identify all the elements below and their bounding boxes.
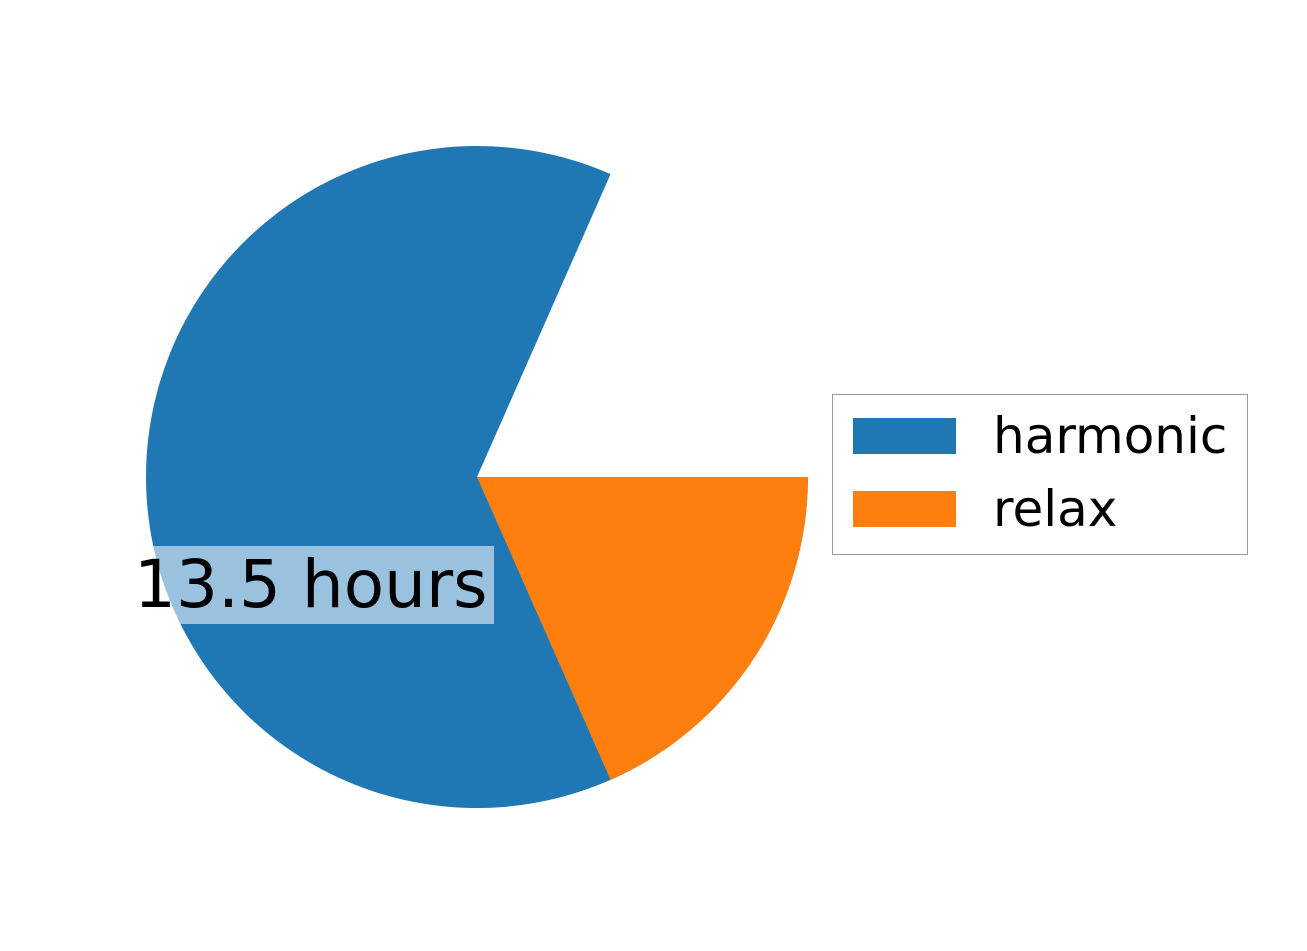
figure-canvas: 13.5 hours harmonic relax bbox=[0, 0, 1307, 951]
legend-label-relax: relax bbox=[993, 484, 1117, 534]
chart-legend: harmonic relax bbox=[832, 394, 1248, 555]
legend-item-harmonic[interactable]: harmonic bbox=[853, 417, 1227, 455]
legend-color-swatch-harmonic bbox=[853, 418, 956, 454]
pie-slice-label-harmonic: 13.5 hours bbox=[128, 546, 494, 624]
legend-item-relax[interactable]: relax bbox=[853, 490, 1117, 528]
legend-label-harmonic: harmonic bbox=[993, 411, 1227, 461]
legend-color-swatch-relax bbox=[853, 491, 956, 527]
pie-slice-group bbox=[146, 146, 808, 808]
